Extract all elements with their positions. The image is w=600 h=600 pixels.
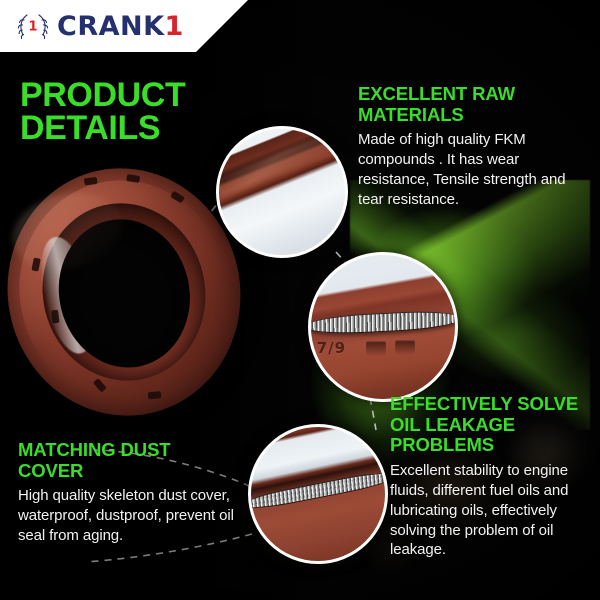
seal-emboss-block [366,341,386,356]
feature-heading-oil-leakage: EFFECTIVELY SOLVE OIL LEAKAGE PROBLEMS [390,394,595,456]
feature-body-dust-cover: High quality skeleton dust cover, waterp… [18,486,240,545]
callout-raw-materials-image [219,129,345,255]
garter-spring-coil [308,309,458,336]
feature-heading-dust-cover: MATCHING DUST COVER [18,440,240,481]
feature-block-raw-materials: EXCELLENT RAW MATERIALS Made of high qua… [358,84,590,210]
feature-body-raw-materials: Made of high quality FKM compounds . It … [358,130,590,209]
emblem-number: 1 [28,20,37,35]
page-title: PRODUCT DETAILS [20,79,260,146]
page-title-line-2: DETAILS [20,112,260,145]
feature-block-oil-leakage: EFFECTIVELY SOLVE OIL LEAKAGE PROBLEMS E… [390,394,595,560]
feature-body-oil-leakage: Excellent stability to engine fluids, di… [390,461,595,560]
feature-heading-raw-materials: EXCELLENT RAW MATERIALS [358,84,590,125]
brand-logo[interactable]: 1 CRANK1 [0,11,184,41]
laurel-wreath-icon: 1 [16,11,50,41]
seal-notch [84,177,98,186]
product-details-infographic: 7/9 [0,0,600,600]
brand-name-suffix: 1 [165,11,184,42]
callout-spring: 7/9 [308,252,458,402]
seal-emboss-marking: 7/9 [317,339,346,357]
callout-raw-materials [216,126,348,258]
garter-spring-coil [248,468,388,513]
seal-notch [148,391,162,399]
feature-block-dust-cover: MATCHING DUST COVER High quality skeleto… [18,440,240,546]
page-title-line-1: PRODUCT [20,79,260,112]
brand-name: CRANK1 [57,13,184,40]
callout-edge-image [251,427,385,561]
callout-spring-image: 7/9 [311,255,455,399]
brand-name-text: CRANK [57,11,165,42]
seal-emboss-block [395,340,415,355]
callout-edge [248,424,388,564]
